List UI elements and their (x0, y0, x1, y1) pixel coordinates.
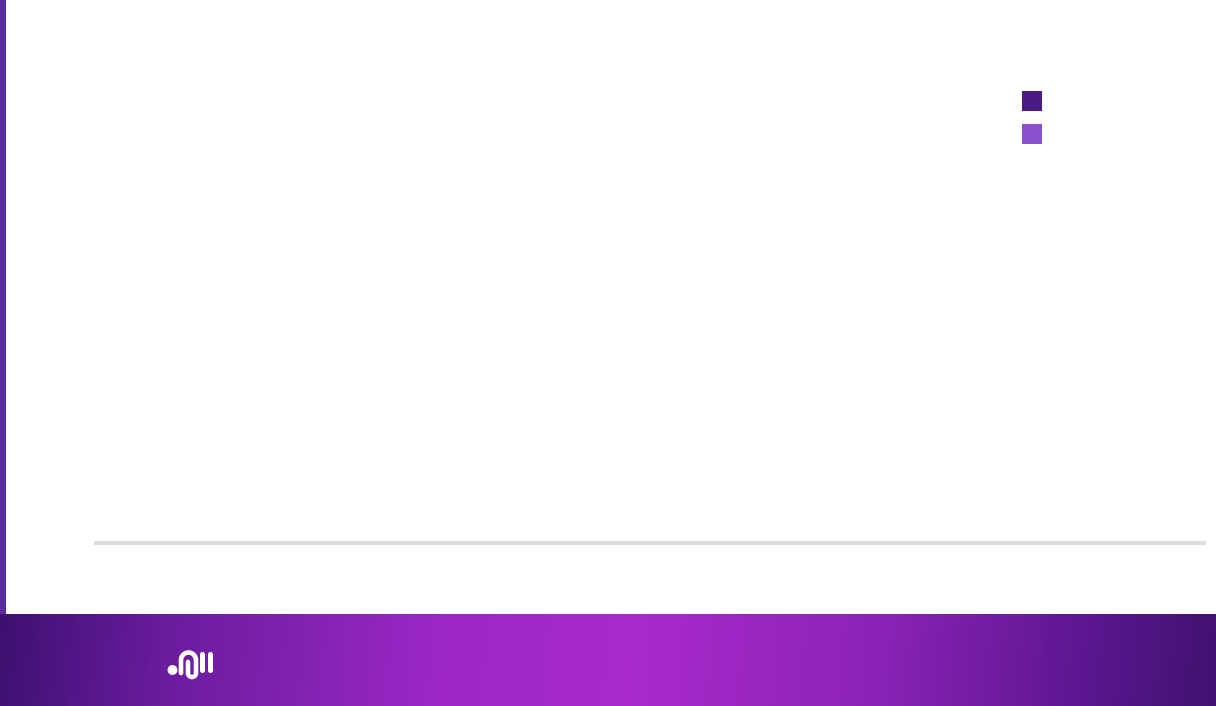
legend-swatch-icon (1022, 91, 1042, 111)
y-axis (6, 129, 88, 542)
brand-logo[interactable] (166, 640, 224, 680)
legend-item-dedicated[interactable] (1022, 84, 1054, 117)
infographic-root (0, 0, 1216, 706)
footer-bar (0, 614, 1216, 706)
bar-series-container (94, 129, 1204, 542)
market-us-logo-icon (166, 640, 214, 680)
x-axis (94, 552, 1204, 592)
